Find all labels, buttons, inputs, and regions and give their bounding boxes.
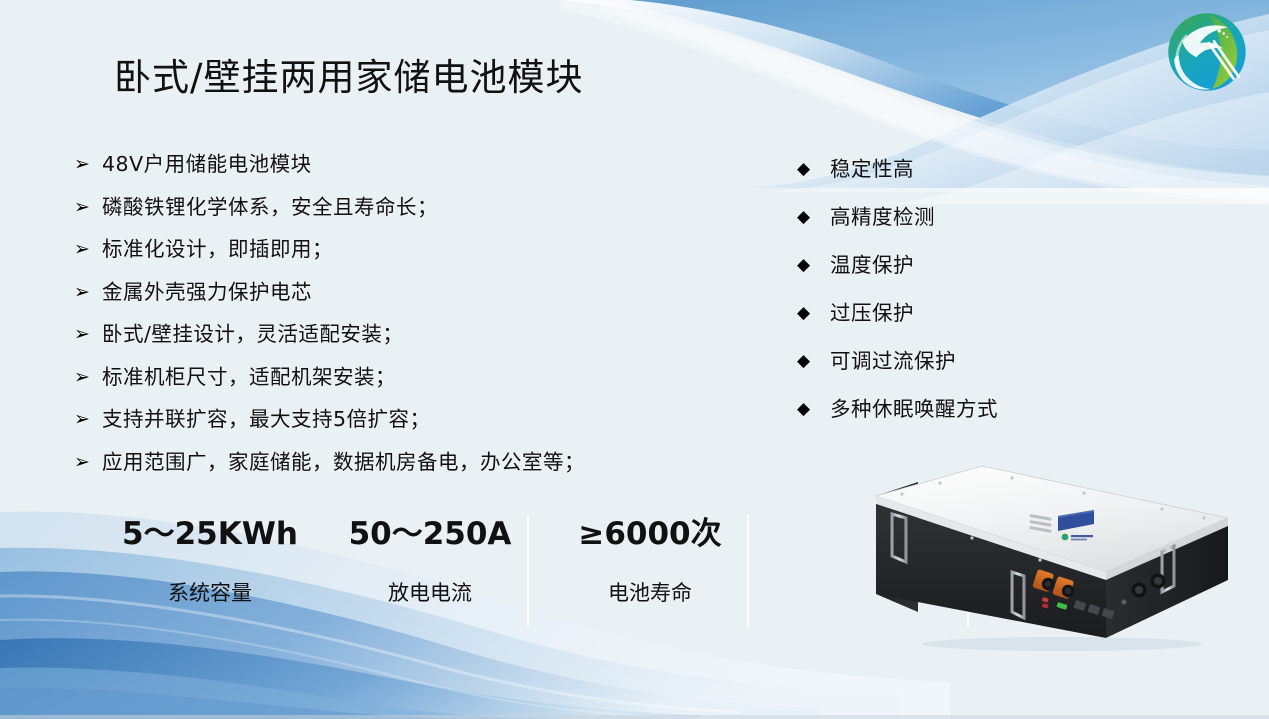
spec-stats: 5～25KWh 系统容量 50～250A 放电电流 ≥6000次 电池寿命 <box>100 515 760 627</box>
slide-canvas: 卧式/壁挂两用家储电池模块 ➢ 48V户用储能电池模块 ➢ 磷酸铁锂化学体系，安… <box>0 0 1269 719</box>
list-item: ➢ 金属外壳强力保护电芯 <box>74 279 714 305</box>
stat-label: 电池寿命 <box>540 580 760 606</box>
list-item-label: 标准化设计，即插即用； <box>102 236 333 262</box>
stat-label: 系统容量 <box>100 580 320 606</box>
arrow-bullet-icon: ➢ <box>74 236 102 262</box>
arrow-bullet-icon: ➢ <box>74 279 102 305</box>
list-item: ◆ 稳定性高 <box>797 156 1097 183</box>
list-item: ➢ 48V户用储能电池模块 <box>74 151 714 177</box>
list-item: ◆ 可调过流保护 <box>797 348 1097 375</box>
list-item: ◆ 过压保护 <box>797 300 1097 327</box>
stat-divider <box>747 515 749 627</box>
stat-item-capacity: 5～25KWh 系统容量 <box>100 515 320 627</box>
arrow-bullet-icon: ➢ <box>74 449 102 475</box>
product-image-battery-module <box>862 452 1252 657</box>
list-item: ➢ 卧式/壁挂设计，灵活适配安装； <box>74 321 714 347</box>
list-item: ◆ 高精度检测 <box>797 204 1097 231</box>
list-item-label: 标准机柜尺寸，适配机架安装； <box>102 364 396 390</box>
company-logo-icon <box>1163 8 1251 96</box>
arrow-bullet-icon: ➢ <box>74 406 102 432</box>
stat-value: ≥6000次 <box>540 515 760 553</box>
stat-value: 5～25KWh <box>100 515 320 553</box>
arrow-bullet-icon: ➢ <box>74 151 102 177</box>
stat-item-cycle-life: ≥6000次 电池寿命 <box>540 515 760 627</box>
list-item-label: 48V户用储能电池模块 <box>102 151 312 177</box>
list-item-label: 可调过流保护 <box>830 348 956 375</box>
arrow-bullet-icon: ➢ <box>74 364 102 390</box>
list-item-label: 应用范围广，家庭储能，数据机房备电，办公室等； <box>102 449 585 475</box>
stat-value: 50～250A <box>320 515 540 553</box>
diamond-bullet-icon: ◆ <box>797 396 830 423</box>
diamond-bullet-icon: ◆ <box>797 300 830 327</box>
list-item-label: 稳定性高 <box>830 156 914 183</box>
list-item-label: 卧式/壁挂设计，灵活适配安装； <box>102 321 403 347</box>
list-item-label: 支持并联扩容，最大支持5倍扩容； <box>102 406 431 432</box>
list-item: ➢ 应用范围广，家庭储能，数据机房备电，办公室等； <box>74 449 714 475</box>
stat-label: 放电电流 <box>320 580 540 606</box>
list-item-label: 高精度检测 <box>830 204 935 231</box>
diamond-bullet-icon: ◆ <box>797 204 830 231</box>
stat-divider <box>527 515 529 627</box>
feature-list-right: ◆ 稳定性高 ◆ 高精度检测 ◆ 温度保护 ◆ 过压保护 ◆ 可调过流保护 ◆ … <box>797 156 1097 444</box>
list-item-label: 多种休眠唤醒方式 <box>830 396 998 423</box>
list-item: ➢ 磷酸铁锂化学体系，安全且寿命长； <box>74 194 714 220</box>
arrow-bullet-icon: ➢ <box>74 194 102 220</box>
list-item-label: 温度保护 <box>830 252 914 279</box>
list-item-label: 金属外壳强力保护电芯 <box>102 279 312 305</box>
list-item: ➢ 支持并联扩容，最大支持5倍扩容； <box>74 406 714 432</box>
diamond-bullet-icon: ◆ <box>797 252 830 279</box>
stat-item-current: 50～250A 放电电流 <box>320 515 540 627</box>
diamond-bullet-icon: ◆ <box>797 348 830 375</box>
list-item: ➢ 标准化设计，即插即用； <box>74 236 714 262</box>
list-item: ◆ 温度保护 <box>797 252 1097 279</box>
page-title: 卧式/壁挂两用家储电池模块 <box>114 57 583 100</box>
list-item-label: 磷酸铁锂化学体系，安全且寿命长； <box>102 194 438 220</box>
list-item: ◆ 多种休眠唤醒方式 <box>797 396 1097 423</box>
diamond-bullet-icon: ◆ <box>797 156 830 183</box>
feature-list-left: ➢ 48V户用储能电池模块 ➢ 磷酸铁锂化学体系，安全且寿命长； ➢ 标准化设计… <box>74 151 714 491</box>
list-item-label: 过压保护 <box>830 300 914 327</box>
arrow-bullet-icon: ➢ <box>74 321 102 347</box>
list-item: ➢ 标准机柜尺寸，适配机架安装； <box>74 364 714 390</box>
